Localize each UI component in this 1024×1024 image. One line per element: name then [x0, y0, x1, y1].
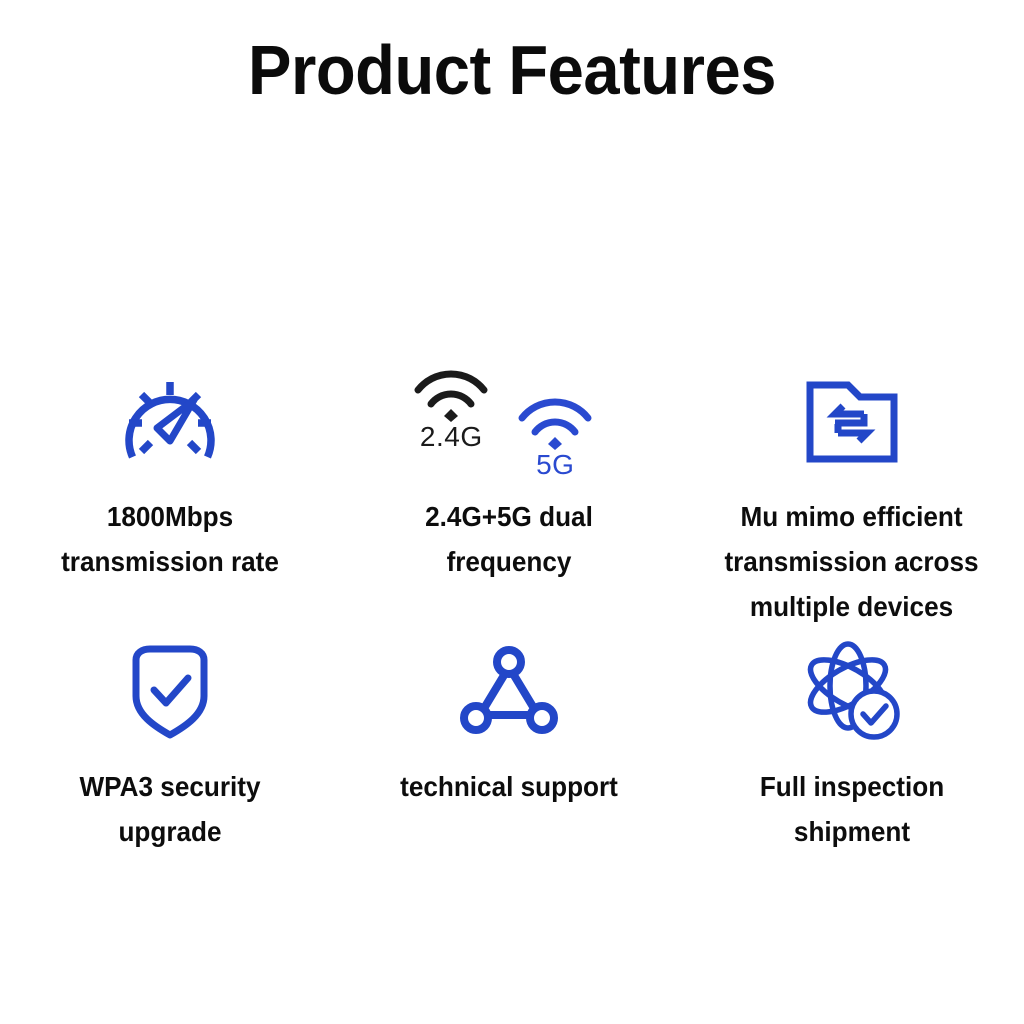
network-nodes-icon: [460, 634, 558, 746]
caption-line-3: multiple devices: [688, 584, 1016, 629]
atom-check-icon: [798, 634, 906, 746]
caption-line-1: Mu mimo efficient: [688, 494, 1016, 539]
feature-caption: 1800Mbps transmission rate: [13, 494, 327, 584]
caption-line-2: frequency: [353, 539, 667, 584]
feature-caption: WPA3 security upgrade: [13, 764, 327, 854]
speedometer-icon: [118, 362, 222, 480]
dual-band-wifi-icon: 2.4G 5G: [404, 362, 614, 480]
caption-line-2: shipment: [695, 809, 1009, 854]
wifi-5g-group: 5G: [516, 392, 594, 480]
feature-item-dual-band: 2.4G 5G 2.4G+5G dua: [340, 362, 680, 634]
feature-caption: Full inspection shipment: [695, 764, 1009, 854]
caption-line-2: transmission rate: [13, 539, 327, 584]
feature-item-full-inspection: Full inspection shipment: [679, 634, 1024, 884]
feature-caption: Mu mimo efficient transmission across mu…: [688, 494, 1016, 629]
caption-line-1: 2.4G+5G dual: [353, 494, 667, 539]
page-title: Product Features: [36, 28, 988, 112]
wifi-5g-label: 5G: [516, 450, 594, 480]
feature-caption: 2.4G+5G dual frequency: [353, 494, 667, 584]
shield-check-icon: [126, 634, 214, 746]
caption-line-2: upgrade: [13, 809, 327, 854]
feature-item-mu-mimo: Mu mimo efficient transmission across mu…: [679, 362, 1024, 634]
feature-item-speed: 1800Mbps transmission rate: [0, 362, 340, 634]
caption-line-1: Full inspection: [695, 764, 1009, 809]
feature-caption: technical support: [353, 764, 667, 809]
feature-grid: 1800Mbps transmission rate: [0, 362, 1024, 884]
caption-line-1: WPA3 security: [13, 764, 327, 809]
wifi-24g-label: 2.4G: [412, 422, 490, 452]
wifi-24g-group: 2.4G: [412, 364, 490, 452]
feature-item-wpa3: WPA3 security upgrade: [0, 634, 340, 884]
product-features-page: Product Features: [0, 0, 1024, 1024]
caption-line-1: technical support: [353, 764, 667, 809]
feature-item-technical-support: technical support: [340, 634, 680, 884]
caption-line-1: 1800Mbps: [13, 494, 327, 539]
wifi-5g-icon: [516, 392, 594, 450]
folder-transfer-icon: [802, 362, 902, 480]
wifi-24g-icon: [412, 364, 490, 422]
caption-line-2: transmission across: [688, 539, 1016, 584]
